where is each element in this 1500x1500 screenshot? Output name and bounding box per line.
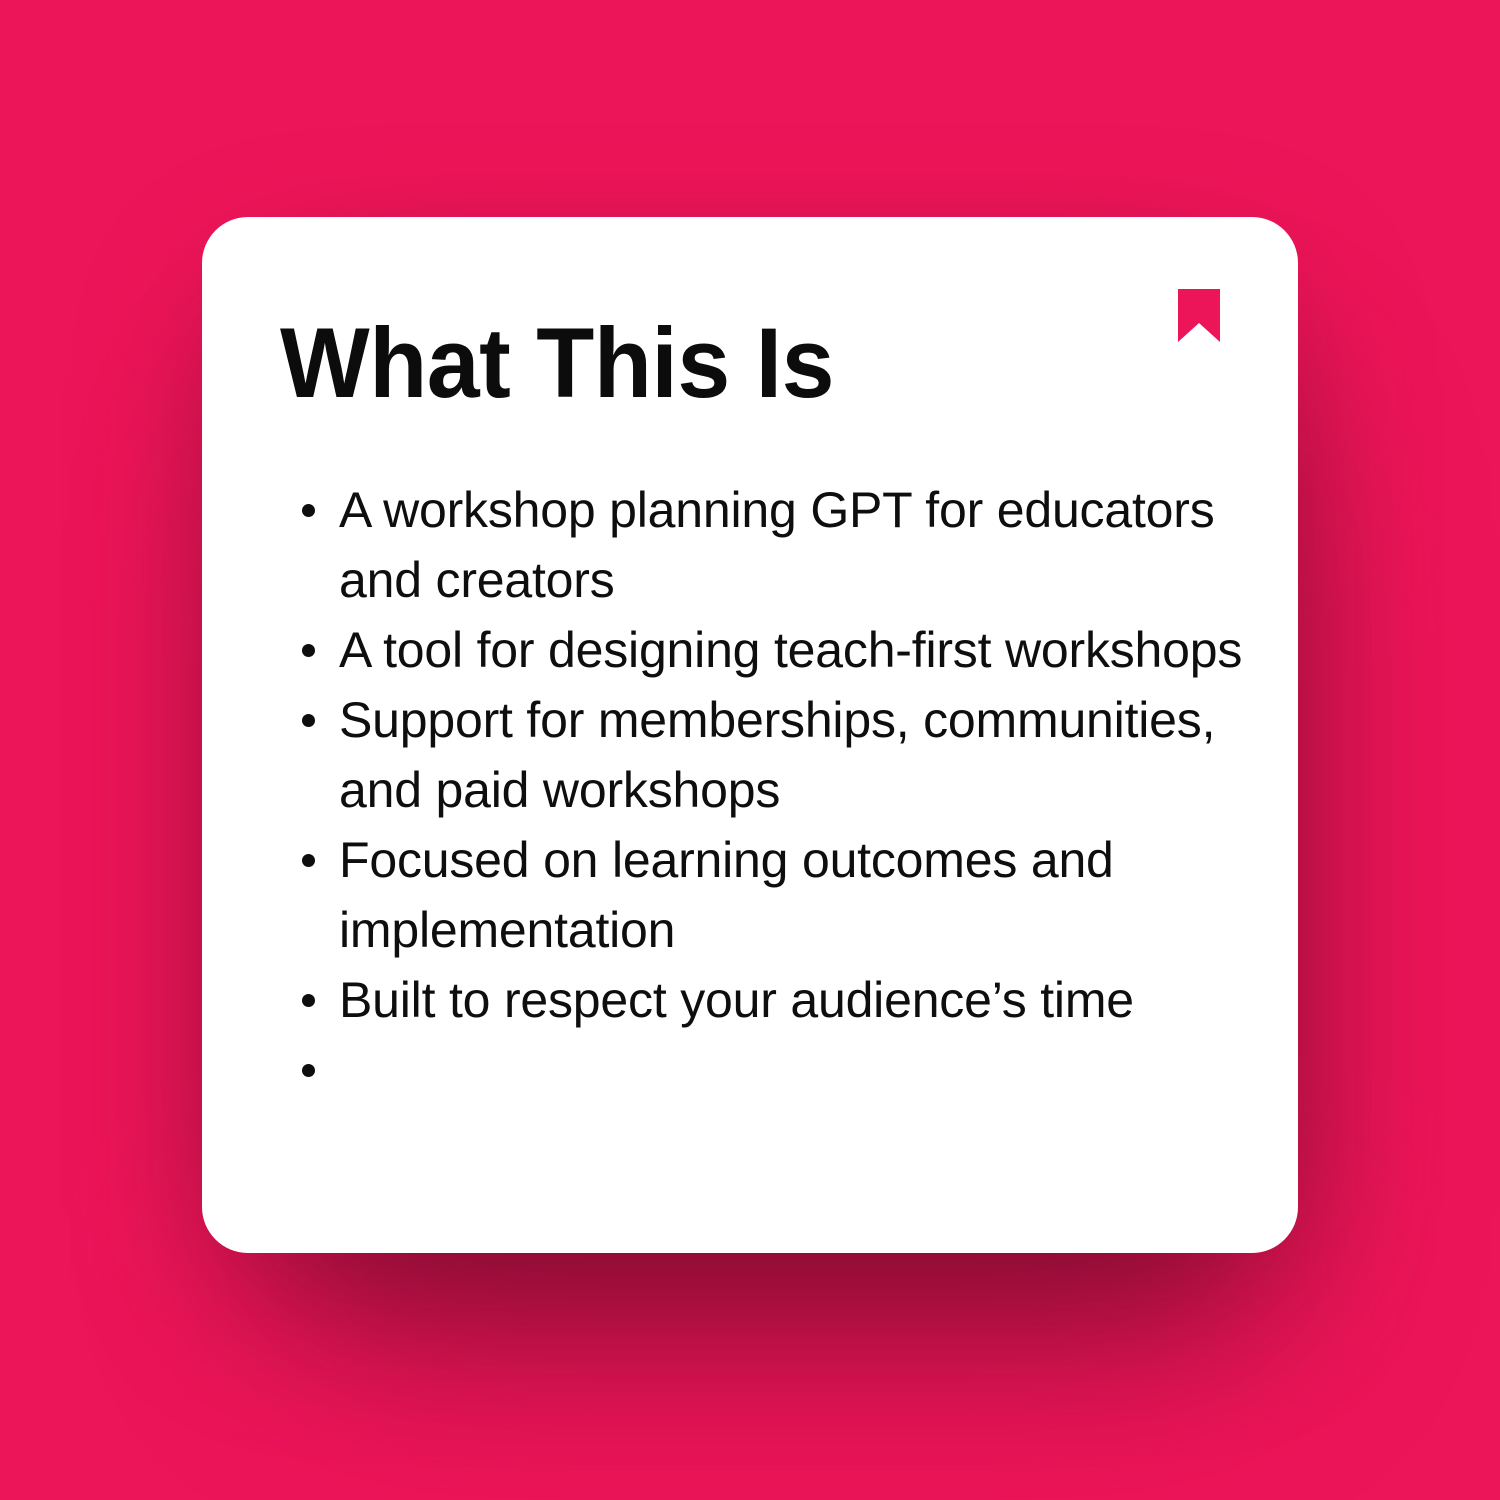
bookmark-icon[interactable] xyxy=(1178,289,1220,342)
content-card: What This Is A workshop planning GPT for… xyxy=(202,217,1298,1253)
list-item: A workshop planning GPT for educators an… xyxy=(300,475,1252,615)
list-item xyxy=(300,1035,1252,1105)
list-item-text: Focused on learning outcomes and impleme… xyxy=(339,832,1114,958)
list-item: Focused on learning outcomes and impleme… xyxy=(300,825,1252,965)
feature-bullet-list: A workshop planning GPT for educators an… xyxy=(300,475,1252,1105)
list-item: Built to respect your audience’s time xyxy=(300,965,1252,1035)
slide-canvas: What This Is A workshop planning GPT for… xyxy=(0,0,1500,1500)
list-item: A tool for designing teach-first worksho… xyxy=(300,615,1252,685)
list-item-text: A workshop planning GPT for educators an… xyxy=(339,482,1215,608)
list-item-text: A tool for designing teach-first worksho… xyxy=(339,622,1242,678)
page-title: What This Is xyxy=(280,313,834,414)
list-item-text: Support for memberships, communities, an… xyxy=(339,692,1215,818)
list-item: Support for memberships, communities, an… xyxy=(300,685,1252,825)
list-item-text: Built to respect your audience’s time xyxy=(339,972,1134,1028)
